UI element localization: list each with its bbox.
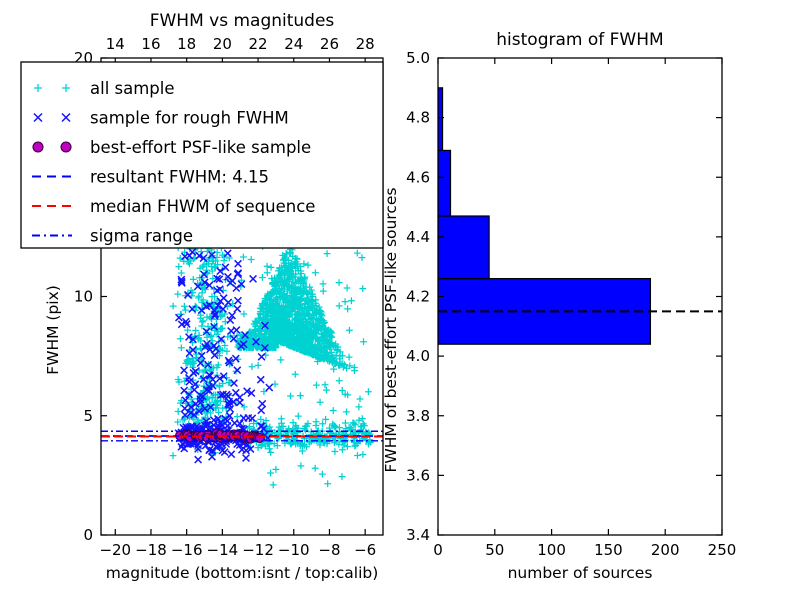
right-panel-title: histogram of FWHM — [496, 30, 663, 50]
left-xtick-label: −12 — [242, 541, 274, 559]
histogram-bar — [438, 88, 443, 151]
left-xtick-top-label: 16 — [141, 35, 160, 53]
left-xtick-label: −14 — [207, 541, 239, 559]
left-xtick-top-label: 14 — [106, 35, 125, 53]
right-ytick-label: 4.8 — [406, 109, 430, 127]
right-ytick-label: 4.2 — [406, 288, 430, 306]
left-xtick-label: −20 — [99, 541, 131, 559]
right-ytick-label: 5.0 — [406, 49, 430, 67]
left-ytick-label: 0 — [83, 526, 93, 544]
left-xtick-label: −18 — [135, 541, 167, 559]
legend-item-label: sigma range — [90, 227, 193, 246]
left-xtick-label: −8 — [318, 541, 340, 559]
legend-item-label: resultant FWHM: 4.15 — [90, 168, 269, 187]
legend-box: all samplesample for rough FWHMbest-effo… — [21, 62, 383, 248]
right-ytick-label: 4.0 — [406, 347, 430, 365]
figure-canvas: −20−18−16−14−12−10−8−6141618202224262805… — [0, 0, 800, 600]
right-xtick-label: 200 — [651, 541, 680, 559]
left-ytick-label: 5 — [83, 407, 93, 425]
histogram-bar — [438, 216, 489, 279]
legend-item-label: sample for rough FWHM — [90, 109, 289, 128]
legend-item-label: median FHWM of sequence — [90, 197, 315, 216]
right-xtick-label: 150 — [594, 541, 623, 559]
left-yaxis-label: FWHM (pix) — [44, 285, 62, 375]
left-xtick-top-label: 24 — [284, 35, 303, 53]
right-ytick-label: 3.6 — [406, 466, 430, 484]
right-xtick-label: 250 — [708, 541, 737, 559]
left-xtick-top-label: 18 — [177, 35, 196, 53]
right-xtick-label: 50 — [485, 541, 504, 559]
left-panel-title: FWHM vs magnitudes — [150, 11, 335, 31]
left-xtick-label: −6 — [354, 541, 376, 559]
left-xaxis-label: magnitude (bottom:isnt / top:calib) — [106, 564, 379, 582]
legend-item-label: best-effort PSF-like sample — [90, 138, 311, 157]
left-xtick-top-label: 22 — [249, 35, 268, 53]
right-xaxis-label: number of sources — [508, 564, 653, 582]
left-xtick-label: −16 — [171, 541, 203, 559]
left-xtick-top-label: 28 — [356, 35, 375, 53]
histogram-bar — [438, 150, 450, 216]
figure-svg: −20−18−16−14−12−10−8−6141618202224262805… — [0, 0, 800, 600]
left-xtick-top-label: 20 — [213, 35, 232, 53]
right-xtick-label: 100 — [537, 541, 566, 559]
left-xtick-label: −10 — [278, 541, 310, 559]
right-ytick-label: 4.4 — [406, 228, 430, 246]
right-ytick-label: 3.4 — [406, 526, 430, 544]
right-xtick-label: 0 — [433, 541, 443, 559]
right-yaxis-label: FWHM of best-effort PSF-like sources — [382, 187, 400, 472]
right-ytick-label: 4.6 — [406, 168, 430, 186]
right-ytick-label: 3.8 — [406, 407, 430, 425]
left-ytick-label: 10 — [74, 288, 93, 306]
left-xtick-top-label: 26 — [320, 35, 339, 53]
legend-item-label: all sample — [90, 79, 175, 98]
